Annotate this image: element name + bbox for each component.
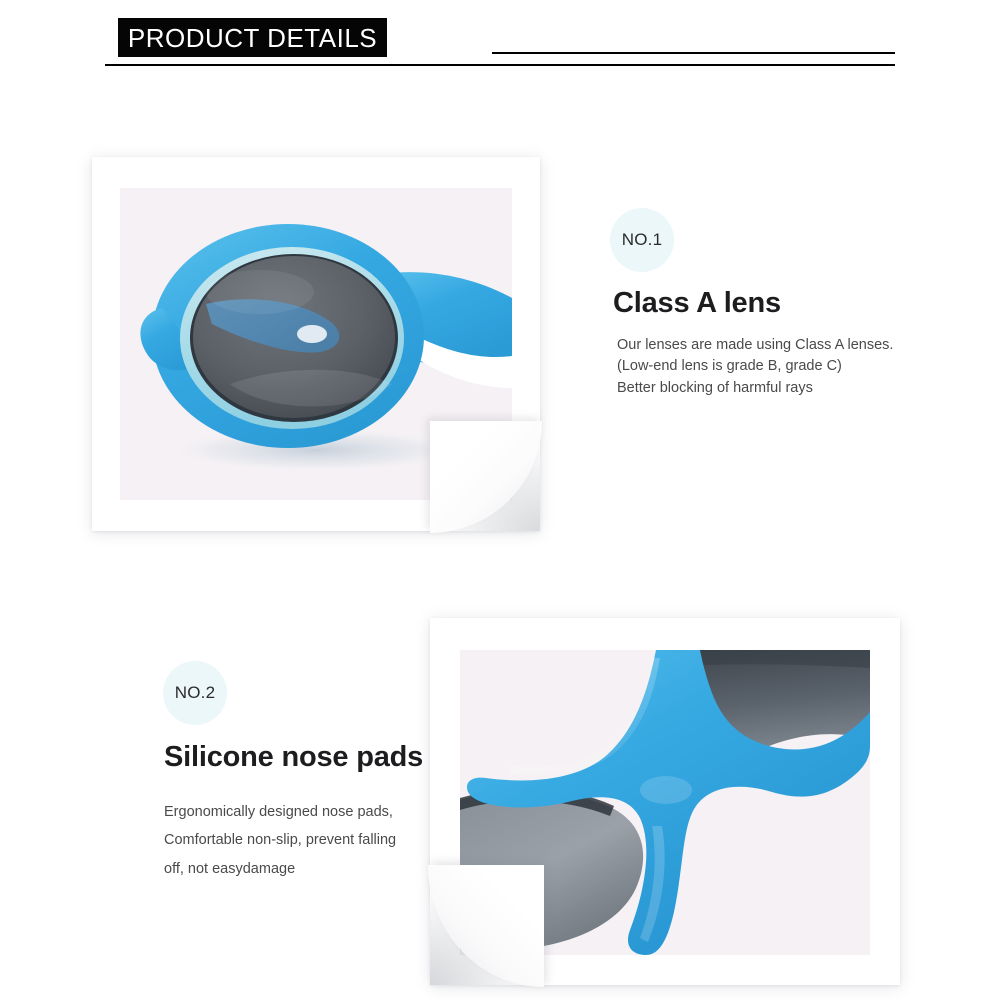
sunglasses-lens-illustration <box>120 188 512 500</box>
sunglasses-nosepad-illustration <box>460 650 870 955</box>
feature-description: Our lenses are made using Class A lenses… <box>617 335 893 400</box>
feature-heading: Silicone nose pads <box>164 742 423 774</box>
feature-badge-no1: NO.1 <box>610 208 674 272</box>
product-photo-card-nosepad[interactable] <box>430 618 900 985</box>
product-photo-nosepad <box>460 650 870 955</box>
feature-badge-label: NO.1 <box>610 208 674 272</box>
feature-description-line: Our lenses are made using Class A lenses… <box>617 335 893 357</box>
product-photo-card-lens[interactable] <box>92 157 540 531</box>
feature-description-line: Better blocking of harmful rays <box>617 378 893 400</box>
feature-heading: Class A lens <box>613 288 893 320</box>
feature-description-line: off, not easydamage <box>164 855 423 884</box>
product-photo-lens <box>120 188 512 500</box>
feature-block-nosepad: NO.2 Silicone nose pads Ergonomically de… <box>163 661 423 883</box>
page-title-box: PRODUCT DETAILS <box>118 18 387 57</box>
feature-description-line: (Low-end lens is grade B, grade C) <box>617 356 893 378</box>
page-header: PRODUCT DETAILS <box>0 0 1000 80</box>
header-rule-long <box>105 64 895 66</box>
feature-block-lens: NO.1 Class A lens Our lenses are made us… <box>612 208 893 399</box>
feature-badge-no2: NO.2 <box>163 661 227 725</box>
feature-description: Ergonomically designed nose pads, Comfor… <box>164 798 423 884</box>
feature-description-line: Comfortable non-slip, prevent falling <box>164 826 423 855</box>
page-title: PRODUCT DETAILS <box>128 25 377 51</box>
header-rule-short <box>492 52 895 54</box>
feature-badge-label: NO.2 <box>163 661 227 725</box>
feature-description-line: Ergonomically designed nose pads, <box>164 798 423 827</box>
